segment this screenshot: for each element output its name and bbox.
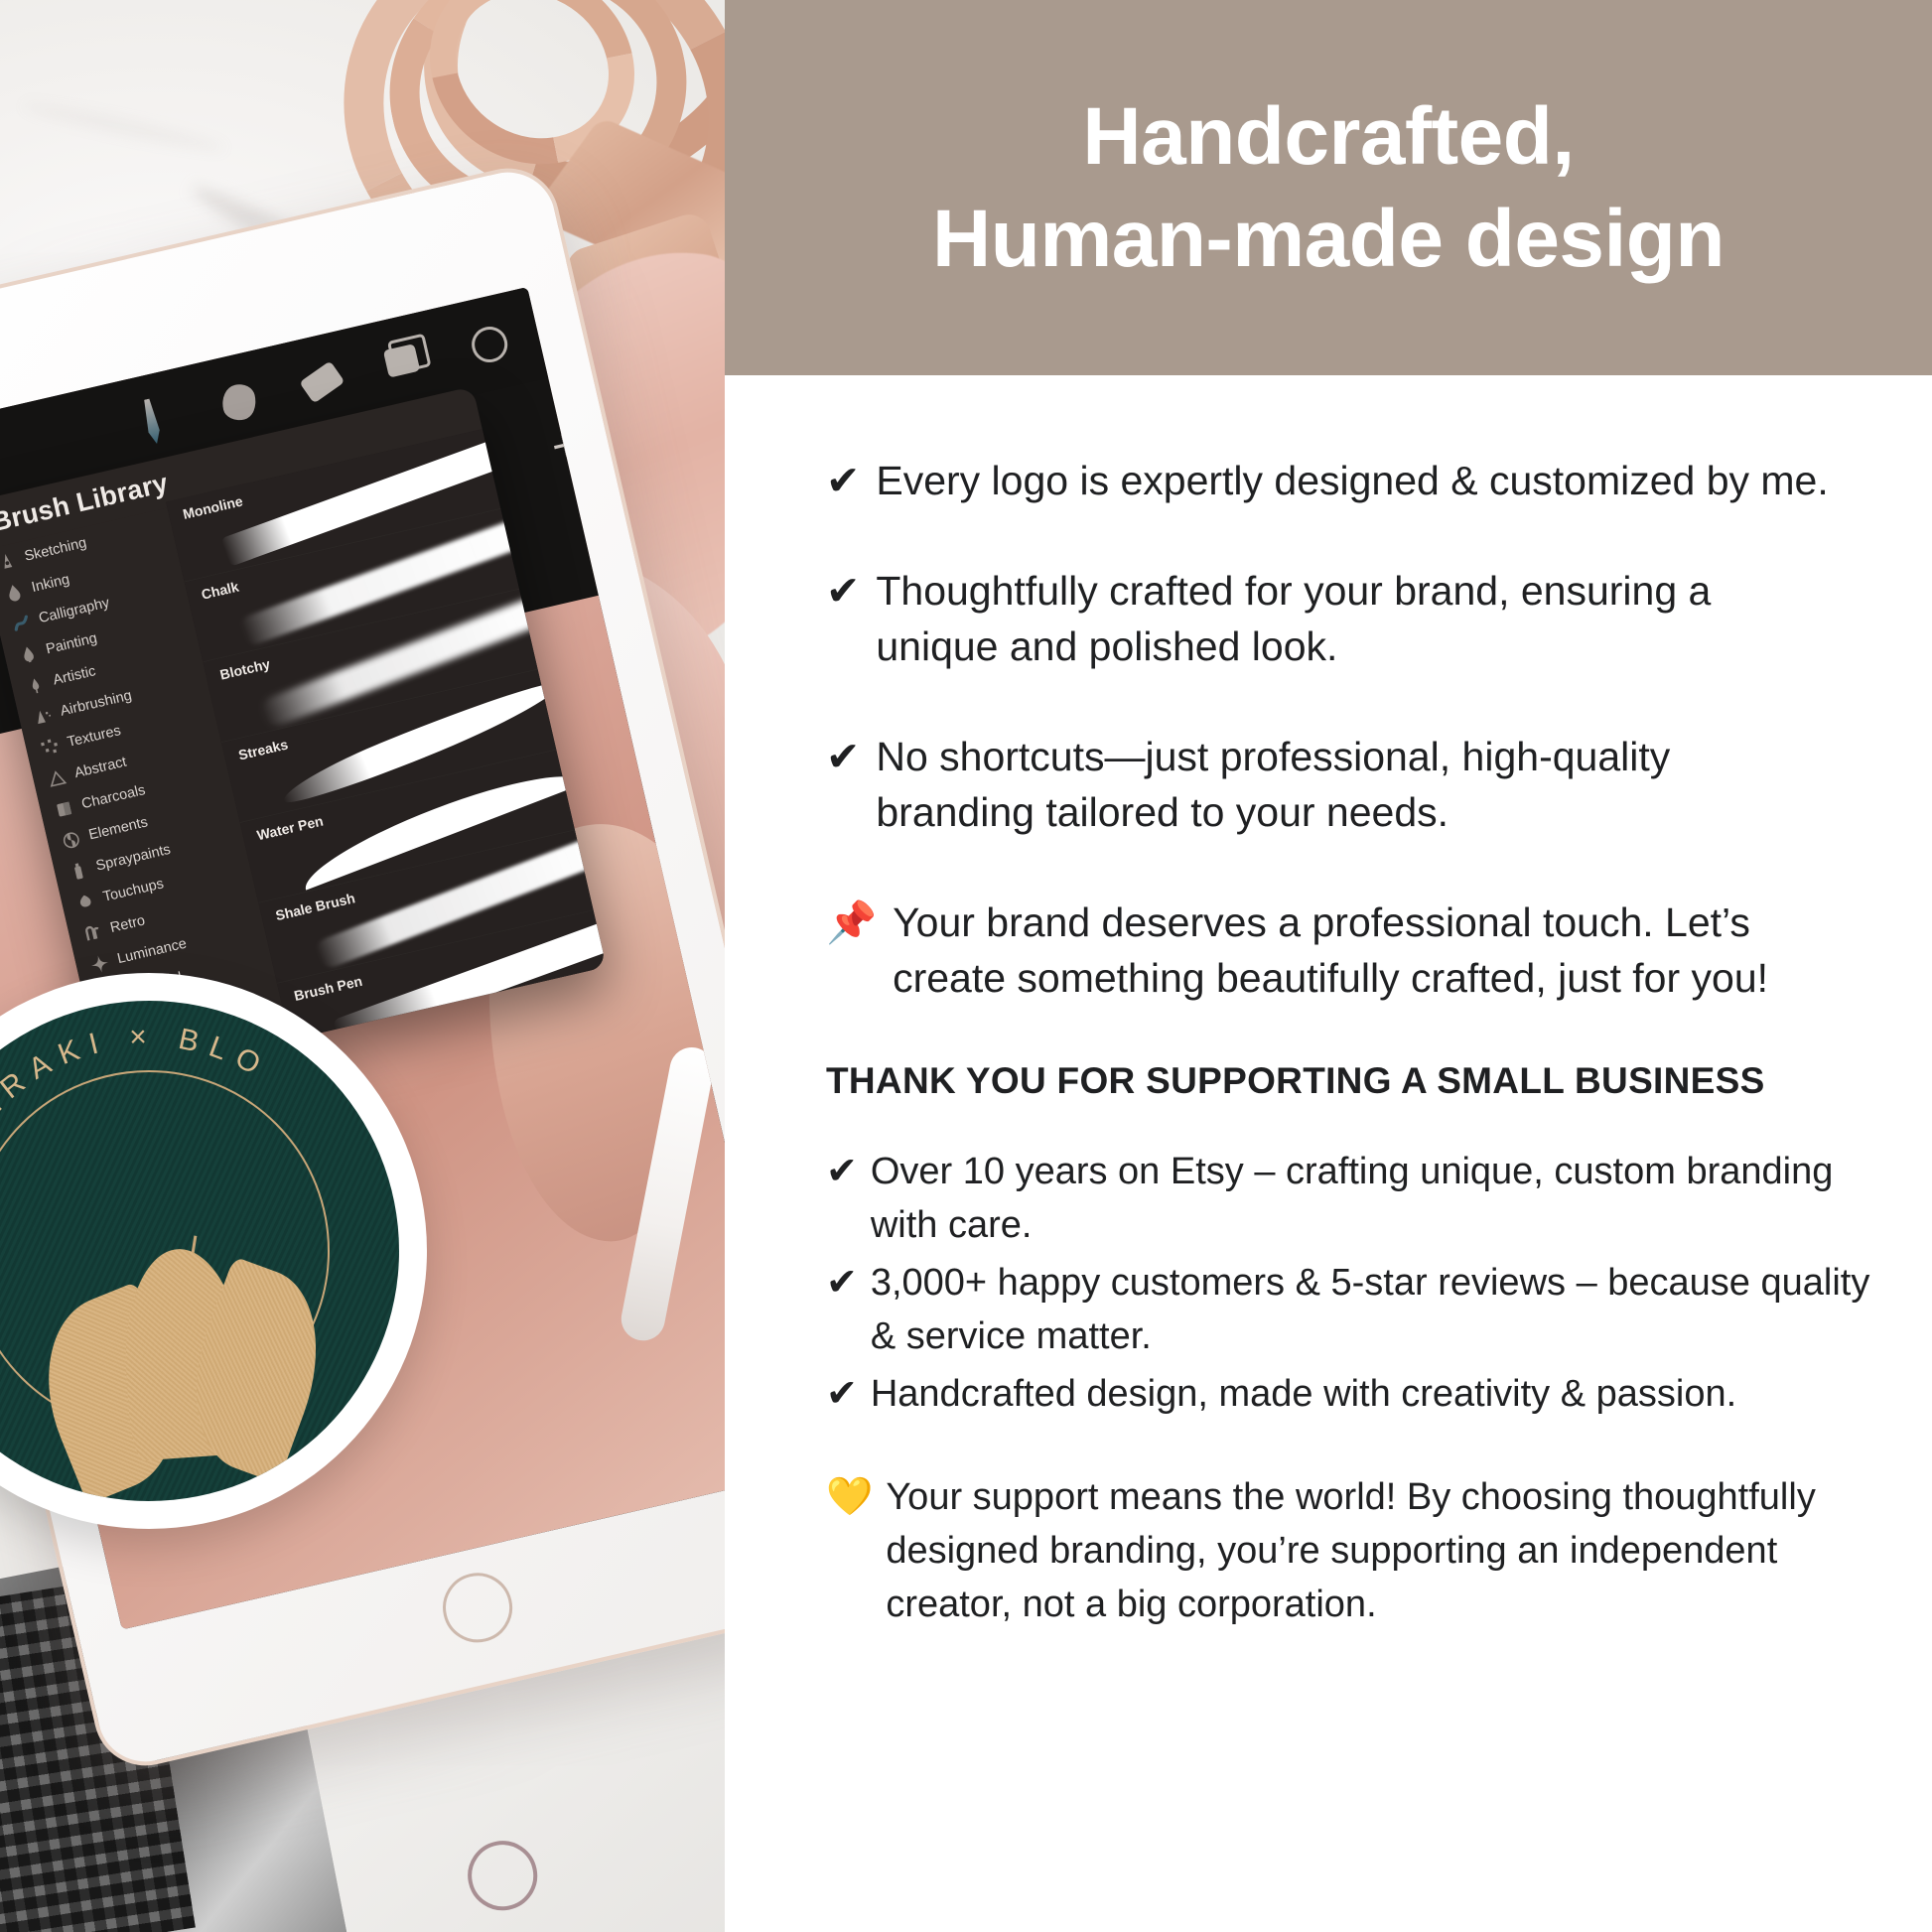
elements-circle-icon (60, 828, 82, 851)
airbrush-icon (32, 705, 55, 728)
credential-item: ✔ 3,000+ happy customers & 5-star review… (826, 1257, 1876, 1364)
check-icon: ✔ (826, 563, 860, 620)
sparkle-icon (88, 952, 111, 975)
product-photo: + Brush Library Sketching Inking Calligr… (0, 0, 725, 1932)
artistic-drop-icon (24, 674, 47, 697)
texture-dots-icon (39, 736, 62, 759)
charcoal-block-icon (53, 797, 75, 820)
credential-item: ✔ Over 10 years on Etsy – crafting uniqu… (826, 1146, 1876, 1253)
yellow-heart-icon: 💛 (826, 1471, 873, 1525)
title-line-2: Human-made design (932, 188, 1725, 290)
category-label: Inking (30, 572, 70, 596)
check-icon: ✔ (826, 1257, 858, 1311)
check-icon: ✔ (826, 729, 860, 785)
ink-drop-icon (3, 581, 26, 604)
benefit-item: ✔ Thoughtfully crafted for your brand, e… (826, 563, 1876, 675)
spray-can-icon (68, 860, 90, 883)
benefit-text: Every logo is expertly designed & custom… (876, 453, 1828, 509)
pencil-tip-icon (0, 550, 18, 573)
content-panel: Handcrafted, Human-made design ✔ Every l… (725, 0, 1932, 1932)
closing-item: 💛 Your support means the world! By choos… (826, 1471, 1876, 1632)
category-label: Painting (45, 630, 99, 657)
pushpin-icon: 📌 (826, 895, 877, 951)
benefit-item: ✔ Every logo is expertly designed & cust… (826, 453, 1876, 509)
check-icon: ✔ (826, 1368, 858, 1422)
benefit-item: 📌 Your brand deserves a professional tou… (826, 895, 1876, 1007)
brand-logo-sticker: MERAKI × BLO (0, 973, 427, 1529)
category-label: Retro (109, 912, 147, 936)
benefit-item: ✔ No shortcuts—just professional, high-q… (826, 729, 1876, 841)
body-content: ✔ Every logo is expertly designed & cust… (725, 375, 1932, 1932)
touchup-blob-icon (74, 891, 97, 913)
retro-icon (81, 921, 104, 944)
eraser-tool-icon[interactable] (299, 360, 345, 403)
page-title: Handcrafted, Human-made design (932, 85, 1725, 291)
smudge-tool-icon[interactable] (218, 381, 259, 424)
category-label: Textures (66, 723, 122, 751)
section-heading: THANK YOU FOR SUPPORTING A SMALL BUSINES… (826, 1060, 1876, 1102)
layers-tool-icon[interactable] (383, 344, 420, 377)
home-button-icon (462, 1835, 543, 1916)
logo-disc: MERAKI × BLO (0, 1001, 399, 1501)
home-button-icon (436, 1566, 519, 1649)
title-line-1: Handcrafted, (932, 85, 1725, 188)
logo-text: MERAKI × BLO (0, 1021, 275, 1157)
check-icon: ✔ (826, 1146, 858, 1199)
brush-tool-icon[interactable] (134, 396, 170, 447)
category-label: Artistic (52, 663, 97, 688)
benefit-text: Your brand deserves a professional touch… (893, 895, 1846, 1007)
category-label: Abstract (73, 755, 128, 782)
benefit-text: Thoughtfully crafted for your brand, ens… (876, 563, 1829, 675)
svg-text:MERAKI × BLO: MERAKI × BLO (0, 1021, 275, 1157)
paint-drop-icon (17, 642, 40, 665)
spacer (826, 1426, 1876, 1471)
header-banner: Handcrafted, Human-made design (725, 0, 1932, 375)
triangle-icon (46, 766, 69, 789)
calligraphy-squiggle-icon (10, 612, 33, 634)
credential-text: Over 10 years on Etsy – crafting unique,… (871, 1146, 1873, 1253)
benefit-text: No shortcuts—just professional, high-qua… (876, 729, 1829, 841)
promo-graphic: + Brush Library Sketching Inking Calligr… (0, 0, 1932, 1932)
color-swatch-icon[interactable] (469, 323, 511, 365)
credential-item: ✔ Handcrafted design, made with creativi… (826, 1368, 1876, 1422)
check-icon: ✔ (826, 453, 860, 509)
closing-text: Your support means the world! By choosin… (886, 1471, 1876, 1632)
credential-text: Handcrafted design, made with creativity… (871, 1368, 1736, 1422)
marble-vein (21, 97, 228, 156)
credential-text: 3,000+ happy customers & 5-star reviews … (871, 1257, 1873, 1364)
